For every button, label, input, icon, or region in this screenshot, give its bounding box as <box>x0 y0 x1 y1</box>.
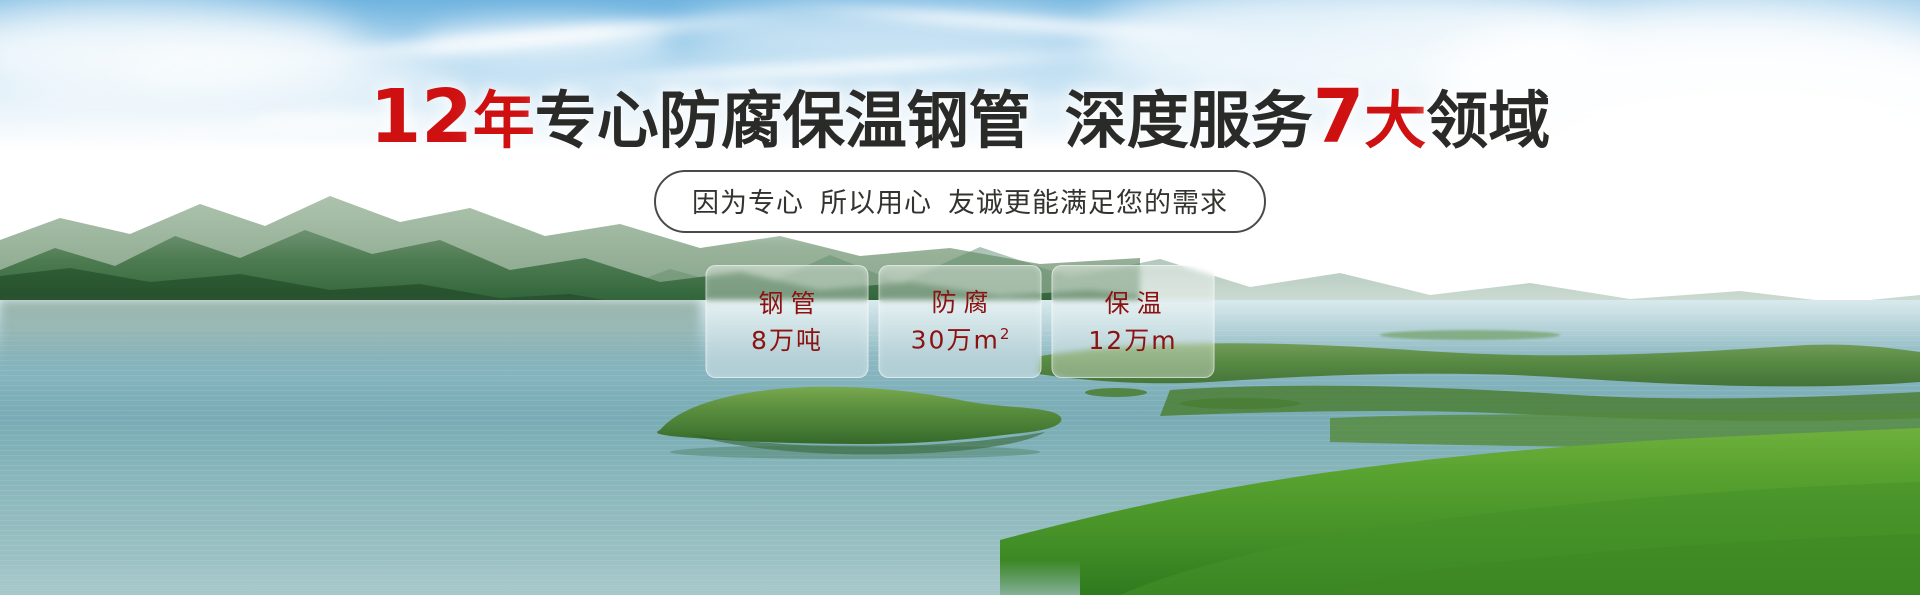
water-reflection <box>0 300 700 370</box>
stat-card-exponent: 2 <box>1000 325 1010 343</box>
stat-card-value-main: 12万m <box>1088 326 1177 355</box>
stat-card-value-main: 30万m <box>911 326 1000 355</box>
stat-card-group: 钢管 8万吨 防腐 30万m2 保温 12万m <box>706 265 1215 378</box>
stat-card-steel-pipe: 钢管 8万吨 <box>706 265 869 378</box>
islet-small <box>1180 398 1300 409</box>
foreground-grass <box>1000 420 1920 595</box>
stat-card-value: 30万m2 <box>911 327 1010 352</box>
stat-card-anticorrosion: 防腐 30万m2 <box>879 265 1042 378</box>
banner-headline: 12年专心防腐保温钢管深度服务7大领域 <box>0 80 1920 154</box>
subtitle-part-3: 友诚更能满足您的需求 <box>948 188 1228 219</box>
headline-years-unit: 年 <box>473 84 535 157</box>
stat-card-label: 防腐 <box>924 290 995 315</box>
headline-segment-1: 专心防腐保温钢管 <box>535 84 1031 157</box>
islet-small <box>1085 388 1147 397</box>
banner-stage: 12年专心防腐保温钢管深度服务7大领域 因为专心所以用心友诚更能满足您的需求 钢… <box>0 0 1920 595</box>
stat-card-value-main: 8万吨 <box>751 326 823 355</box>
water-edge-bottom <box>0 560 1080 595</box>
subtitle-pill: 因为专心所以用心友诚更能满足您的需求 <box>654 170 1266 233</box>
headline-years-number: 12 <box>370 74 473 160</box>
headline-segment-3: 领域 <box>1426 84 1550 157</box>
subtitle-part-1: 因为专心 <box>692 188 804 219</box>
headline-domains-unit: 大 <box>1364 84 1426 157</box>
headline-domains-number: 7 <box>1313 74 1365 160</box>
subtitle-part-2: 所以用心 <box>820 188 932 219</box>
stat-card-value: 12万m <box>1088 328 1177 353</box>
headline-segment-2: 深度服务 <box>1065 84 1313 157</box>
stat-card-value: 8万吨 <box>751 328 823 353</box>
stat-card-label: 保温 <box>1097 291 1168 316</box>
stat-card-label: 钢管 <box>751 291 822 316</box>
islet-small <box>1380 330 1560 340</box>
stat-card-insulation: 保温 12万m <box>1052 265 1215 378</box>
